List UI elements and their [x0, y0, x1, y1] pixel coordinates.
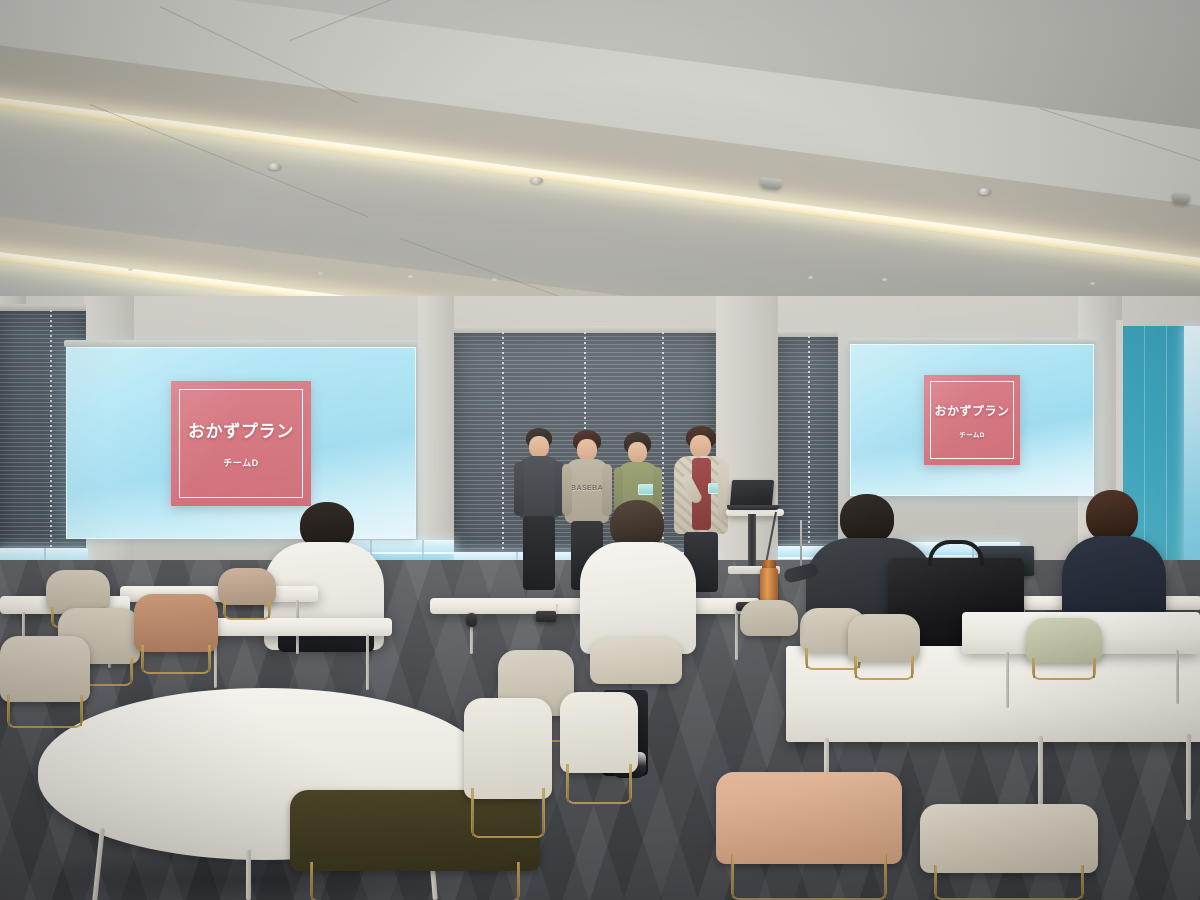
chair-far-left[interactable] [0, 636, 90, 728]
face [577, 439, 597, 461]
blind-cord [50, 310, 52, 560]
ceiling [0, 0, 1200, 330]
slide-inner-border [930, 381, 1014, 459]
slide-inner-border [179, 389, 303, 498]
chair-right-3[interactable] [1026, 618, 1102, 680]
downlight-icon [128, 268, 133, 271]
desk-device [536, 611, 556, 622]
chair-back-left-3[interactable] [218, 568, 276, 620]
downlight-icon [492, 278, 497, 281]
audience-front-center [580, 500, 696, 660]
lanyard-badge [638, 484, 654, 495]
face [529, 436, 549, 458]
sprinkler-icon [978, 188, 991, 195]
chair-center-white[interactable] [560, 692, 638, 804]
downlight-icon [318, 272, 323, 275]
chair-terracotta-1[interactable] [134, 594, 218, 674]
table-leg [366, 634, 369, 690]
face [628, 442, 647, 463]
table-leg [246, 850, 251, 900]
chair-foreground-right[interactable] [920, 804, 1098, 900]
downlight-icon [408, 275, 413, 278]
ceiling-speaker-icon [759, 177, 782, 190]
downlight-icon [1090, 282, 1095, 285]
blind-headrail [0, 304, 86, 311]
legs [523, 516, 555, 590]
projection-screen-right: おかずプラン チームD [850, 344, 1094, 496]
slide-team-label: チームD [959, 429, 985, 439]
table-leg [1006, 652, 1009, 708]
laptop-keyboard-base[interactable] [727, 505, 779, 510]
chair-foreground-peach[interactable] [716, 772, 902, 900]
downlight-icon [882, 278, 887, 281]
desk-device-camera [466, 613, 477, 627]
sprinkler-icon [530, 177, 543, 184]
bag-handle [928, 540, 984, 566]
slide-title: おかずプラン [188, 417, 294, 442]
desk-device-antenna [556, 604, 558, 614]
podium-post [748, 514, 756, 570]
left-screen-housing [64, 340, 418, 347]
blind-cord [502, 332, 504, 560]
table-leg [1186, 734, 1191, 820]
table-leg [735, 612, 738, 660]
chair-behind-podium[interactable] [740, 600, 798, 650]
arm-left [514, 462, 524, 516]
table-leg [1176, 650, 1179, 704]
ceiling-speaker-icon [1171, 192, 1190, 205]
arm-left [562, 464, 572, 516]
presenter-1 [514, 428, 564, 590]
head-back [840, 494, 894, 544]
face [690, 435, 711, 458]
slide-card-left: おかずプラン チームD [171, 381, 311, 506]
chair-center-behind[interactable] [590, 638, 682, 702]
head-back [1086, 490, 1138, 542]
chair-right-2[interactable] [848, 614, 920, 680]
downlight-icon [808, 276, 813, 279]
slide-team-label: チームD [223, 456, 258, 469]
slide-title: おかずプラン [935, 402, 1010, 419]
laptop-screen[interactable] [730, 480, 774, 506]
sprinkler-icon [268, 163, 281, 170]
chair-mid-white[interactable] [464, 698, 552, 838]
slide-card-right: おかずプラン チームD [924, 375, 1020, 465]
conference-room-photo: おかずプラン チームD おかずプラン チームD BASEBALL [0, 0, 1200, 900]
